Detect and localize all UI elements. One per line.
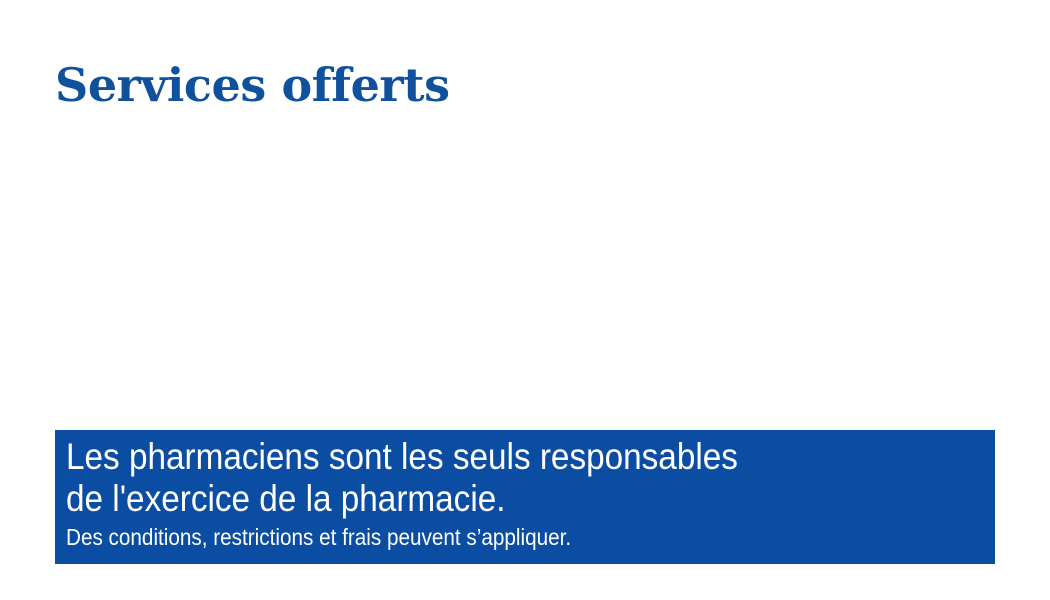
banner-note: Des conditions, restrictions et frais pe… xyxy=(66,522,902,552)
banner-statement-line-1: Les pharmaciens sont les seuls responsab… xyxy=(66,436,902,478)
banner-statement-line-2: de l'exercice de la pharmacie. xyxy=(66,478,902,520)
highlight-banner: Les pharmaciens sont les seuls responsab… xyxy=(55,430,995,564)
page-title: Services offerts xyxy=(55,59,450,111)
slide-canvas: Services offerts Les pharmaciens sont le… xyxy=(0,0,1050,600)
